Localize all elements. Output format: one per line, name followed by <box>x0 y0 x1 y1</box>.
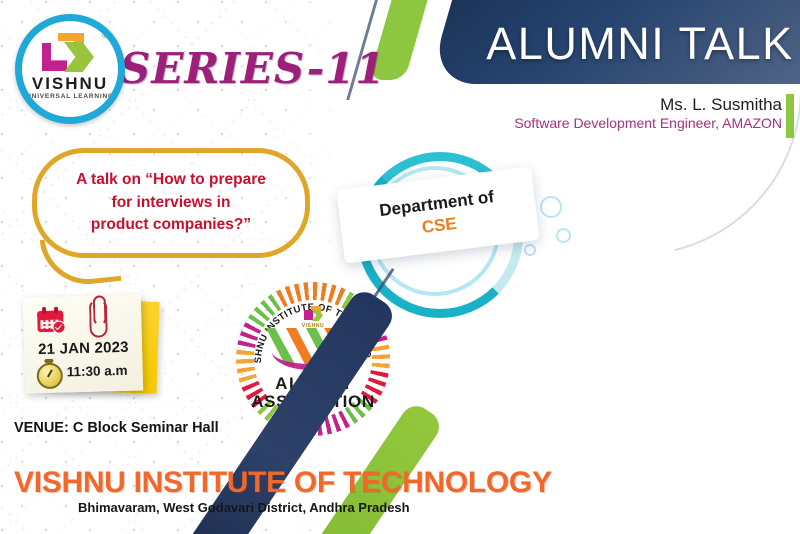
topic-text: A talk on “How to prepare for interviews… <box>62 169 280 238</box>
mini-shape-magenta <box>304 310 313 320</box>
vishnu-logo-name: VISHNU <box>22 74 118 94</box>
vishnu-logo-tagline: UNIVERSAL LEARNING <box>22 93 118 100</box>
calendar-icon <box>37 307 64 333</box>
event-time: 11:30 a.m <box>67 363 128 380</box>
institute-address: Bhimavaram, West Godavari District, Andh… <box>78 500 410 515</box>
topic-speech-bubble: A talk on “How to prepare for interviews… <box>32 148 310 258</box>
alumni-mini-logo-mark <box>303 306 323 322</box>
vishnu-college-logo: ® VISHNU UNIVERSAL LEARNING <box>15 14 125 124</box>
venue-text: VENUE: C Block Seminar Hall <box>14 420 219 436</box>
sticky-note: 21 JAN 2023 11:30 a.m <box>23 294 143 393</box>
topic-line-2: for interviews in <box>76 192 266 215</box>
calendar-peg-left <box>42 307 46 314</box>
decor-bubble-2 <box>556 228 571 243</box>
series-heading: SERIES-11 <box>120 44 386 93</box>
registered-mark-icon: ® <box>102 31 108 40</box>
alumni-talk-poster: Gree ALUMNI TALK Ms. L. Susmitha Softwar… <box>0 0 800 534</box>
stopwatch-hand <box>47 370 53 378</box>
decor-bubble-3 <box>524 244 536 256</box>
event-date: 21 JAN 2023 <box>38 339 129 358</box>
speaker-block: Ms. L. Susmitha Software Development Eng… <box>514 94 782 133</box>
mini-shape-green <box>312 310 323 321</box>
institute-name: VISHNU INSTITUTE OF TECHNOLOGY <box>14 466 552 500</box>
calendar-check-badge <box>52 320 65 333</box>
stopwatch-icon <box>36 363 63 390</box>
page-title: ALUMNI TALK <box>470 10 800 78</box>
vishnu-logo-mark <box>38 33 94 73</box>
calendar-peg-right <box>54 307 58 314</box>
paperclip-icon <box>89 299 108 337</box>
decor-bubble-1 <box>540 196 562 218</box>
logo-shape-green <box>64 42 94 72</box>
speaker-accent-bar <box>786 94 794 138</box>
logo-shape-magenta <box>42 43 67 71</box>
department-name: CSE <box>421 214 458 238</box>
topic-line-3: product companies?” <box>76 214 266 237</box>
speaker-name: Ms. L. Susmitha <box>514 94 782 115</box>
topic-line-1: A talk on “How to prepare <box>76 169 266 192</box>
speaker-role: Software Development Engineer, AMAZON <box>514 115 782 133</box>
